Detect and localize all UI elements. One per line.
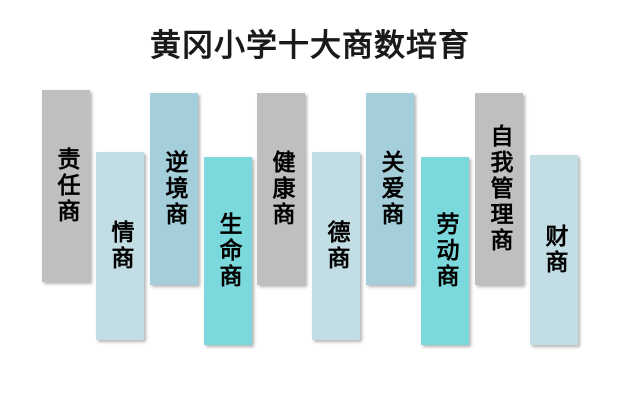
bar-label: 健康商 [266,150,296,228]
bar-5[interactable]: 健康商 [257,93,305,285]
bar-label: 劳动商 [430,212,460,290]
bar-9[interactable]: 自我管理商 [475,93,523,285]
bar-label: 情商 [105,220,135,272]
bar-label: 财商 [539,224,569,276]
bar-label: 关爱商 [375,150,405,228]
bar-2[interactable]: 情商 [96,152,144,340]
bar-label: 德商 [321,220,351,272]
bar-label: 逆境商 [159,150,189,228]
bar-6[interactable]: 德商 [312,152,360,340]
bar-3[interactable]: 逆境商 [150,93,198,285]
bar-label: 生命商 [213,212,243,290]
slide-canvas: 黄冈小学十大商数培育 责任商情商逆境商生命商健康商德商关爱商劳动商自我管理商财商 [0,0,620,413]
bar-label: 自我管理商 [484,124,514,254]
bar-label: 责任商 [51,147,81,225]
bar-4[interactable]: 生命商 [204,157,252,345]
bar-8[interactable]: 劳动商 [421,157,469,345]
bar-1[interactable]: 责任商 [42,90,90,282]
page-title: 黄冈小学十大商数培育 [0,26,620,66]
bar-7[interactable]: 关爱商 [366,93,414,285]
bar-10[interactable]: 财商 [530,155,578,345]
